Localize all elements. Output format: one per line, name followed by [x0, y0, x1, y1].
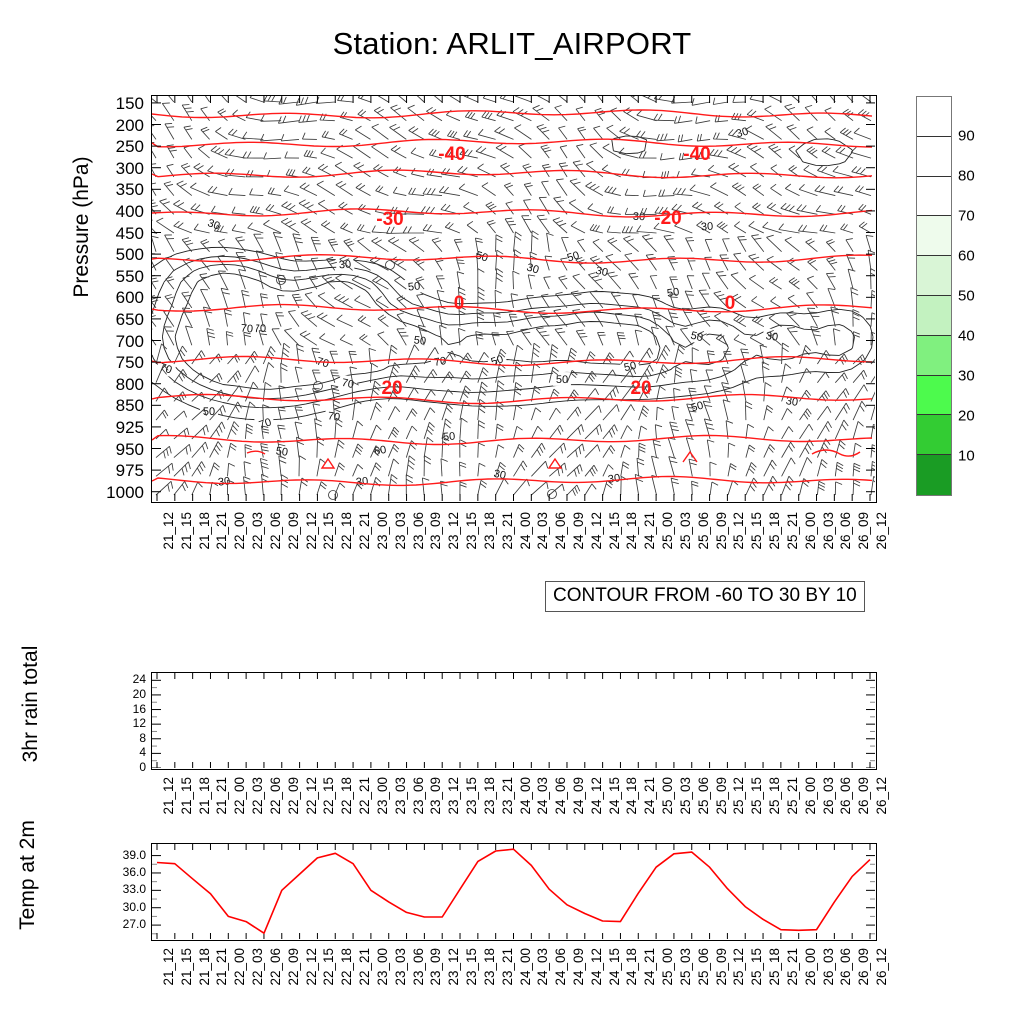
temp-x-tick-26_00: 26_00	[803, 948, 818, 986]
rain-x-tick-25_03: 25_03	[678, 777, 693, 815]
main-x-tick-25_15: 25_15	[749, 512, 764, 550]
temp-x-tick-23_09: 23_09	[428, 948, 443, 986]
main-y-tick-750: 750	[116, 353, 144, 373]
main-y-tick-350: 350	[116, 180, 144, 200]
main-x-tick-23_12: 23_12	[446, 512, 461, 550]
rain-x-tick-24_09: 24_09	[571, 777, 586, 815]
main-x-tick-25_18: 25_18	[767, 512, 782, 550]
temp-x-tick-23_00: 23_00	[375, 948, 390, 986]
temp-label-0-5: 0	[725, 293, 736, 314]
svg-text:50: 50	[556, 374, 568, 386]
rain-x-tick-24_15: 24_15	[607, 777, 622, 815]
main-x-tick-22_18: 22_18	[339, 512, 354, 550]
rain-x-tick-23_21: 23_21	[500, 777, 515, 815]
rain-x-tick-22_09: 22_09	[286, 777, 301, 815]
temp-y-tick-36.0: 36.0	[123, 865, 146, 879]
temp-x-tick-22_15: 22_15	[321, 948, 336, 986]
rain-x-tick-24_18: 24_18	[624, 777, 639, 815]
temp-x-tick-25_06: 25_06	[696, 948, 711, 986]
rain-y-axis-title: 3hr rain total	[19, 614, 43, 794]
main-x-tick-24_06: 24_06	[553, 512, 568, 550]
rain-y-tick-24: 24	[133, 672, 146, 686]
main-x-tick-25_21: 25_21	[785, 512, 800, 550]
main-x-tick-22_03: 22_03	[250, 512, 265, 550]
svg-text:70: 70	[240, 323, 253, 336]
rain-y-tick-8: 8	[139, 731, 146, 745]
rain-x-tick-26_09: 26_09	[856, 777, 871, 815]
pressure-time-cross-section: 3070703050707070707070505050305050503050…	[151, 95, 877, 503]
rain-x-tick-26_06: 26_06	[838, 777, 853, 815]
main-x-tick-23_18: 23_18	[482, 512, 497, 550]
temp-x-tick-25_09: 25_09	[714, 948, 729, 986]
main-x-tick-24_03: 24_03	[535, 512, 550, 550]
temp-x-tick-26_12: 26_12	[874, 948, 889, 986]
rain-x-tick-25_18: 25_18	[767, 777, 782, 815]
rain-x-tick-25_00: 25_00	[660, 777, 675, 815]
temp-x-tick-26_03: 26_03	[821, 948, 836, 986]
rain-x-tick-22_12: 22_12	[304, 777, 319, 815]
colorbar-tick-60: 60	[958, 248, 975, 265]
rain-x-tick-26_00: 26_00	[803, 777, 818, 815]
temp-x-tick-23_12: 23_12	[446, 948, 461, 986]
rain-x-axis-labels: 21_1221_1521_1821_2122_0022_0322_0622_09…	[151, 777, 877, 839]
temp-x-tick-22_09: 22_09	[286, 948, 301, 986]
main-x-tick-24_00: 24_00	[518, 512, 533, 550]
temp-y-tick-39.0: 39.0	[123, 848, 146, 862]
main-y-tick-1000: 1000	[106, 483, 144, 503]
colorbar-band-9	[917, 455, 951, 495]
svg-text:50: 50	[442, 430, 455, 443]
svg-text:-40: -40	[438, 144, 465, 165]
rain-x-tick-24_00: 24_00	[518, 777, 533, 815]
main-y-tick-200: 200	[116, 116, 144, 136]
rain-x-tick-21_21: 21_21	[214, 777, 229, 815]
rain-x-tick-21_15: 21_15	[179, 777, 194, 815]
svg-text:60: 60	[373, 444, 387, 458]
colorbar-tick-80: 80	[958, 168, 975, 185]
rain-x-tick-23_15: 23_15	[464, 777, 479, 815]
main-y-tick-250: 250	[116, 137, 144, 157]
temp-ticks	[152, 844, 875, 939]
main-x-tick-23_00: 23_00	[375, 512, 390, 550]
main-x-tick-25_06: 25_06	[696, 512, 711, 550]
rh-label-70-5: 70	[430, 353, 450, 370]
temp-x-tick-24_21: 24_21	[642, 948, 657, 986]
rain-x-tick-24_03: 24_03	[535, 777, 550, 815]
rain-x-tick-26_12: 26_12	[874, 777, 889, 815]
rain-x-tick-26_03: 26_03	[821, 777, 836, 815]
rain-x-tick-25_15: 25_15	[749, 777, 764, 815]
temp-label--20-3: -20	[654, 208, 681, 229]
main-x-tick-24_12: 24_12	[589, 512, 604, 550]
temp-panel	[151, 843, 877, 941]
rh-label-30-31: 30	[490, 465, 511, 482]
main-y-tick-450: 450	[116, 224, 144, 244]
temp-x-tick-25_18: 25_18	[767, 948, 782, 986]
temp-contour-9	[152, 477, 872, 486]
main-x-tick-24_18: 24_18	[624, 512, 639, 550]
main-y-tick-925: 925	[116, 418, 144, 438]
temp-label-20-7: 20	[630, 378, 651, 399]
main-x-tick-21_21: 21_21	[214, 512, 229, 550]
temp-x-tick-24_06: 24_06	[553, 948, 568, 986]
rh-label-30-34: 30	[782, 393, 802, 410]
colorbar-tick-40: 40	[958, 328, 975, 345]
temp-x-tick-22_18: 22_18	[339, 948, 354, 986]
rain-panel	[151, 672, 877, 770]
rh-label-30-25: 30	[762, 328, 782, 344]
temp-x-tick-24_12: 24_12	[589, 948, 604, 986]
temp-x-tick-21_21: 21_21	[214, 948, 229, 986]
rain-x-tick-22_06: 22_06	[268, 777, 283, 815]
main-y-tick-500: 500	[116, 245, 144, 265]
rain-x-tick-23_03: 23_03	[393, 777, 408, 815]
colorbar-band-4	[917, 256, 951, 296]
contour-note: CONTOUR FROM -60 TO 30 BY 10	[545, 581, 865, 612]
temp-x-tick-26_09: 26_09	[856, 948, 871, 986]
rain-x-tick-21_18: 21_18	[197, 777, 212, 815]
svg-text:-40: -40	[683, 144, 710, 165]
colorbar-band-2	[917, 177, 951, 217]
temp-x-tick-22_06: 22_06	[268, 948, 283, 986]
main-x-tick-25_03: 25_03	[678, 512, 693, 550]
colorbar-band-7	[917, 376, 951, 416]
rain-x-tick-25_21: 25_21	[785, 777, 800, 815]
page-title: Station: ARLIT_AIRPORT	[0, 26, 1024, 62]
rain-plot	[152, 673, 875, 768]
temp-x-tick-23_18: 23_18	[482, 948, 497, 986]
main-x-tick-24_21: 24_21	[642, 512, 657, 550]
temp-x-tick-22_12: 22_12	[304, 948, 319, 986]
temp-x-tick-24_03: 24_03	[535, 948, 550, 986]
main-x-tick-22_21: 22_21	[357, 512, 372, 550]
main-x-axis-labels: 21_1221_1521_1821_2122_0022_0322_0622_09…	[151, 512, 877, 578]
colorbar	[916, 96, 952, 496]
temp-y-axis-title: Temp at 2m	[16, 785, 40, 965]
temp-x-tick-23_03: 23_03	[393, 948, 408, 986]
main-y-tick-700: 700	[116, 332, 144, 352]
rain-x-tick-25_06: 25_06	[696, 777, 711, 815]
temp-x-tick-24_18: 24_18	[624, 948, 639, 986]
rh-label-30-30: 30	[352, 473, 372, 489]
colorbar-band-6	[917, 336, 951, 376]
main-x-tick-22_09: 22_09	[286, 512, 301, 550]
temp-y-tick-33.0: 33.0	[123, 882, 146, 896]
main-x-tick-22_00: 22_00	[232, 512, 247, 550]
rain-y-tick-4: 4	[139, 745, 146, 759]
svg-text:20: 20	[381, 378, 402, 399]
colorbar-tick-90: 90	[958, 128, 975, 145]
main-y-tick-550: 550	[116, 267, 144, 287]
rain-x-tick-23_06: 23_06	[411, 777, 426, 815]
temp-x-tick-21_12: 21_12	[161, 948, 176, 986]
main-y-tick-650: 650	[116, 310, 144, 330]
temp-x-tick-25_03: 25_03	[678, 948, 693, 986]
colorbar-tick-10: 10	[958, 448, 975, 465]
main-y-tick-300: 300	[116, 159, 144, 179]
svg-text:70: 70	[433, 355, 447, 369]
main-y-tick-800: 800	[116, 375, 144, 395]
temp-x-tick-23_06: 23_06	[411, 948, 426, 986]
svg-text:-20: -20	[654, 208, 681, 229]
rain-y-tick-12: 12	[133, 716, 146, 730]
rain-x-tick-22_18: 22_18	[339, 777, 354, 815]
colorbar-band-8	[917, 415, 951, 455]
temp-plot	[152, 844, 875, 939]
svg-text:30: 30	[355, 475, 369, 488]
main-y-axis-title: Pressure (hPa)	[70, 97, 94, 357]
main-x-tick-26_12: 26_12	[874, 512, 889, 550]
rain-x-tick-22_03: 22_03	[250, 777, 265, 815]
svg-text:30: 30	[607, 472, 621, 486]
temp-contour-0	[152, 110, 872, 118]
temp-label-0-4: 0	[454, 293, 465, 314]
main-x-tick-24_09: 24_09	[571, 512, 586, 550]
main-x-tick-25_12: 25_12	[731, 512, 746, 550]
main-x-tick-21_15: 21_15	[179, 512, 194, 550]
colorbar-band-0	[917, 97, 951, 137]
rain-x-tick-25_12: 25_12	[731, 777, 746, 815]
main-y-tick-600: 600	[116, 288, 144, 308]
temp-label--40-1: -40	[683, 144, 710, 165]
colorbar-band-3	[917, 216, 951, 256]
main-x-tick-23_21: 23_21	[500, 512, 515, 550]
rain-y-tick-16: 16	[133, 702, 146, 716]
rh-label-50-11: 50	[410, 332, 430, 348]
main-x-tick-22_06: 22_06	[268, 512, 283, 550]
svg-text:20: 20	[630, 378, 651, 399]
colorbar-tick-50: 50	[958, 288, 975, 305]
rain-y-tick-0: 0	[139, 760, 146, 774]
rain-x-tick-23_12: 23_12	[446, 777, 461, 815]
main-x-tick-23_03: 23_03	[393, 512, 408, 550]
svg-text:70: 70	[341, 377, 356, 391]
temp-x-tick-23_15: 23_15	[464, 948, 479, 986]
main-x-tick-26_00: 26_00	[803, 512, 818, 550]
rain-x-tick-21_12: 21_12	[161, 777, 176, 815]
colorbar-band-1	[917, 137, 951, 177]
rain-y-axis-labels: 04812162024	[106, 672, 146, 770]
temp-label-20-6: 20	[381, 378, 402, 399]
temp-x-tick-24_00: 24_00	[518, 948, 533, 986]
colorbar-tick-70: 70	[958, 208, 975, 225]
colorbar-tick-30: 30	[958, 368, 975, 385]
temp-y-tick-30.0: 30.0	[123, 900, 146, 914]
main-x-tick-22_12: 22_12	[304, 512, 319, 550]
temp-label--30-2: -30	[376, 209, 403, 230]
main-y-tick-400: 400	[116, 202, 144, 222]
main-x-tick-26_06: 26_06	[838, 512, 853, 550]
main-x-tick-26_03: 26_03	[821, 512, 836, 550]
temp-x-tick-21_15: 21_15	[179, 948, 194, 986]
main-x-tick-23_15: 23_15	[464, 512, 479, 550]
temp-x-tick-25_21: 25_21	[785, 948, 800, 986]
rain-x-tick-22_21: 22_21	[357, 777, 372, 815]
temp-x-tick-23_21: 23_21	[500, 948, 515, 986]
main-y-tick-150: 150	[116, 94, 144, 114]
main-x-tick-22_15: 22_15	[321, 512, 336, 550]
main-x-tick-26_09: 26_09	[856, 512, 871, 550]
temp-x-tick-25_15: 25_15	[749, 948, 764, 986]
rain-y-tick-20: 20	[133, 687, 146, 701]
temp-label--40-0: -40	[438, 144, 465, 165]
svg-text:0: 0	[454, 293, 465, 314]
main-x-tick-25_00: 25_00	[660, 512, 675, 550]
rain-x-tick-24_06: 24_06	[553, 777, 568, 815]
rain-ticks	[152, 673, 875, 768]
temp-y-tick-27.0: 27.0	[123, 917, 146, 931]
temp-detail-1	[322, 459, 334, 468]
temp-x-tick-22_00: 22_00	[232, 948, 247, 986]
main-x-tick-24_15: 24_15	[607, 512, 622, 550]
main-x-tick-23_09: 23_09	[428, 512, 443, 550]
temp-y-axis-labels: 27.030.033.036.039.0	[100, 843, 146, 941]
rain-x-tick-24_12: 24_12	[589, 777, 604, 815]
temp-x-tick-24_09: 24_09	[571, 948, 586, 986]
rain-x-tick-23_00: 23_00	[375, 777, 390, 815]
rain-x-tick-23_18: 23_18	[482, 777, 497, 815]
colorbar-labels: 908070605040302010	[958, 96, 1008, 496]
svg-text:30: 30	[217, 475, 231, 488]
colorbar-band-5	[917, 296, 951, 336]
temp-x-axis-labels: 21_1221_1521_1821_2122_0022_0322_0622_09…	[151, 948, 877, 1010]
rain-x-tick-24_21: 24_21	[642, 777, 657, 815]
colorbar-tick-20: 20	[958, 408, 975, 425]
calm-circle-4	[329, 491, 338, 500]
temp-x-tick-22_21: 22_21	[357, 948, 372, 986]
temp-x-tick-24_15: 24_15	[607, 948, 622, 986]
svg-text:0: 0	[725, 293, 736, 314]
temp-detail-3	[549, 459, 561, 468]
svg-text:-30: -30	[376, 209, 403, 230]
rain-x-tick-22_15: 22_15	[321, 777, 336, 815]
temp-x-tick-22_03: 22_03	[250, 948, 265, 986]
rh-label-30-14: 30	[522, 259, 543, 278]
rain-x-tick-23_09: 23_09	[428, 777, 443, 815]
temp-x-tick-25_12: 25_12	[731, 948, 746, 986]
main-x-tick-21_18: 21_18	[197, 512, 212, 550]
main-y-tick-975: 975	[116, 461, 144, 481]
rain-x-tick-22_00: 22_00	[232, 777, 247, 815]
main-x-tick-23_06: 23_06	[411, 512, 426, 550]
temp-x-tick-21_18: 21_18	[197, 948, 212, 986]
cross-section-plot: 3070703050707070707070505050305050503050…	[152, 96, 875, 501]
temp-series	[157, 849, 870, 933]
main-y-tick-950: 950	[116, 440, 144, 460]
temp-x-tick-25_00: 25_00	[660, 948, 675, 986]
svg-text:50: 50	[666, 286, 680, 300]
rain-x-tick-25_09: 25_09	[714, 777, 729, 815]
main-x-tick-25_09: 25_09	[714, 512, 729, 550]
main-y-tick-850: 850	[116, 396, 144, 416]
main-x-tick-21_12: 21_12	[161, 512, 176, 550]
temp-x-tick-26_06: 26_06	[838, 948, 853, 986]
